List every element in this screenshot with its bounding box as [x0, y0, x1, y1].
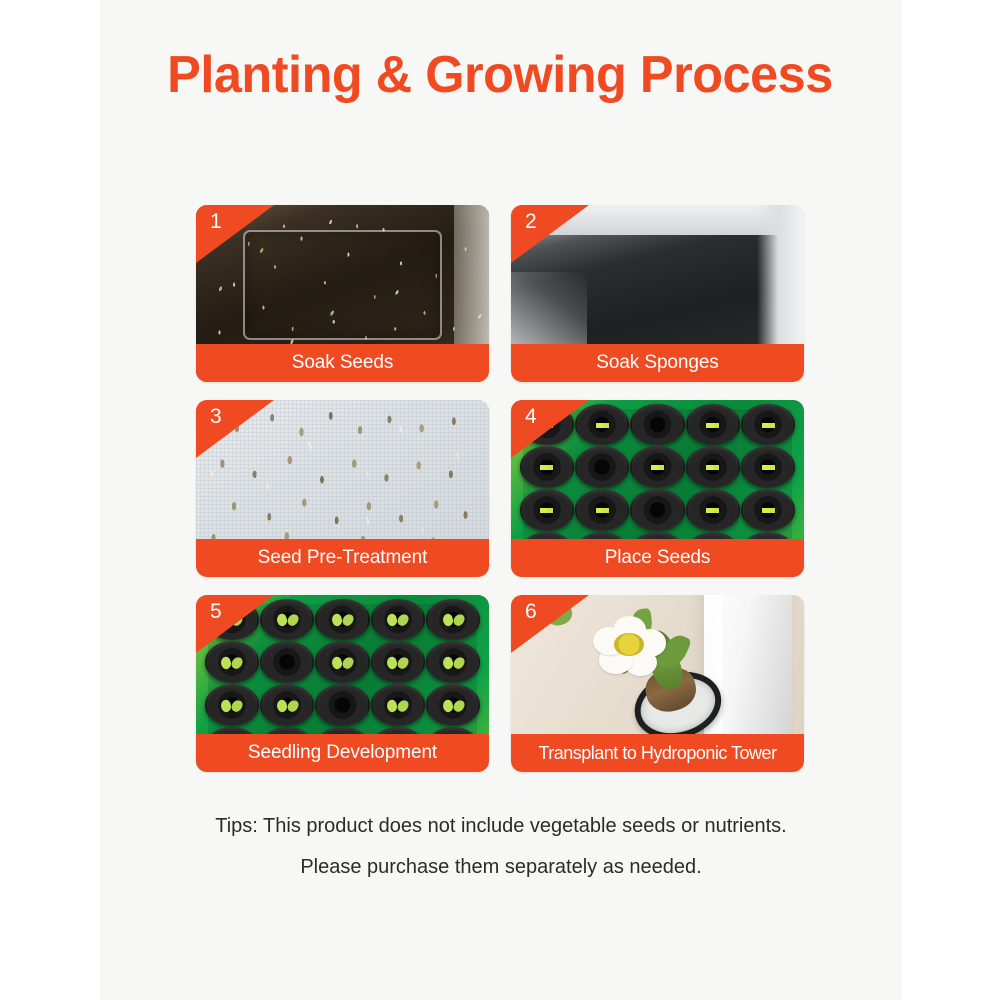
tips-line-1: Tips: This product does not include vege…: [100, 806, 902, 847]
step-caption-1: Soak Seeds: [292, 352, 393, 374]
step-card-4[interactable]: 4 Place Seeds: [511, 400, 804, 577]
seedling-leaves-icon: [332, 614, 353, 627]
step-caption-3: Seed Pre-Treatment: [258, 547, 428, 569]
sponge-puck: [575, 404, 629, 446]
flower-center: [614, 633, 643, 656]
sponge-puck: [520, 446, 574, 488]
seed-sprout-icon: [706, 465, 719, 470]
seed-sprout-icon: [762, 423, 775, 428]
sponge-puck: [520, 489, 574, 531]
step-caption-5: Seedling Development: [248, 742, 437, 764]
tray-outline: [243, 230, 442, 340]
step-card-6[interactable]: 6 Transplant to Hydroponic Tower: [511, 595, 804, 772]
step-caption-6: Transplant to Hydroponic Tower: [538, 743, 776, 764]
sponge-puck: [630, 489, 684, 531]
sponge-puck: [575, 446, 629, 488]
seedling-leaves-icon: [443, 700, 464, 713]
seedling-leaves-icon: [332, 657, 353, 670]
step-caption-bar-2: Soak Sponges: [511, 344, 804, 382]
product-infographic-page: Planting & Growing Process 1 Soak Seeds: [0, 0, 1000, 1000]
seedling-leaves-icon: [443, 657, 464, 670]
seed-sprout-icon: [596, 423, 609, 428]
sponge-puck: [741, 489, 795, 531]
sponge-puck: [205, 684, 259, 726]
step-card-1[interactable]: 1 Soak Seeds: [196, 205, 489, 382]
sponge-puck: [575, 489, 629, 531]
step-caption-bar-3: Seed Pre-Treatment: [196, 539, 489, 577]
seed-sprout-icon: [540, 508, 553, 513]
seedling-leaves-icon: [277, 700, 298, 713]
step-card-5[interactable]: 5 Seedling Development: [196, 595, 489, 772]
page-title: Planting & Growing Process: [15, 46, 985, 104]
sponge-puck: [426, 684, 480, 726]
sponge-puck: [260, 641, 314, 683]
sponge-puck: [205, 641, 259, 683]
step-caption-bar-1: Soak Seeds: [196, 344, 489, 382]
sponge-puck: [315, 599, 369, 641]
seed-sprout-icon: [651, 465, 664, 470]
sponge-puck: [371, 684, 425, 726]
sponge-puck: [371, 599, 425, 641]
sponge-puck: [260, 599, 314, 641]
step-number-6: 6: [525, 601, 537, 622]
seed-sprout-icon: [762, 465, 775, 470]
step-caption-bar-6: Transplant to Hydroponic Tower: [511, 734, 804, 772]
seedling-leaves-icon: [277, 614, 298, 627]
step-number-4: 4: [525, 406, 537, 427]
sponge-puck: [630, 404, 684, 446]
step-caption-bar-5: Seedling Development: [196, 734, 489, 772]
tips-block: Tips: This product does not include vege…: [100, 806, 902, 888]
sponge-puck: [371, 641, 425, 683]
step-number-3: 3: [210, 406, 222, 427]
seedling-leaves-icon: [387, 700, 408, 713]
seed-sprout-icon: [762, 508, 775, 513]
sponge-puck: [741, 446, 795, 488]
tips-line-2: Please purchase them separately as neede…: [100, 847, 902, 888]
sponge-puck: [260, 684, 314, 726]
step-caption-2: Soak Sponges: [596, 352, 718, 374]
seedling-leaves-icon: [387, 614, 408, 627]
sponge-puck: [686, 446, 740, 488]
sponge-puck: [686, 489, 740, 531]
step-caption-4: Place Seeds: [605, 547, 711, 569]
seed-sprout-icon: [540, 465, 553, 470]
step-number-2: 2: [525, 211, 537, 232]
sponge-puck: [426, 641, 480, 683]
sponge-puck: [315, 684, 369, 726]
seed-sprout-icon: [706, 508, 719, 513]
seedling-leaves-icon: [221, 700, 242, 713]
sponge-puck: [686, 404, 740, 446]
sponge-puck: [426, 599, 480, 641]
step-card-2[interactable]: 2 Soak Sponges: [511, 205, 804, 382]
seedling-leaves-icon: [221, 657, 242, 670]
step-number-1: 1: [210, 211, 222, 232]
step-caption-bar-4: Place Seeds: [511, 539, 804, 577]
strawberry-flower: [593, 616, 666, 676]
steps-grid: 1 Soak Seeds 2 Soak Sponges: [196, 205, 804, 772]
seed-sprout-icon: [706, 423, 719, 428]
step-card-3[interactable]: 3 Seed Pre-Treatment: [196, 400, 489, 577]
sponge-puck: [315, 641, 369, 683]
step-number-5: 5: [210, 601, 222, 622]
seedling-leaves-icon: [443, 614, 464, 627]
sponge-puck: [741, 404, 795, 446]
seedling-leaves-icon: [387, 657, 408, 670]
seed-sprout-icon: [596, 508, 609, 513]
sponge-puck: [630, 446, 684, 488]
